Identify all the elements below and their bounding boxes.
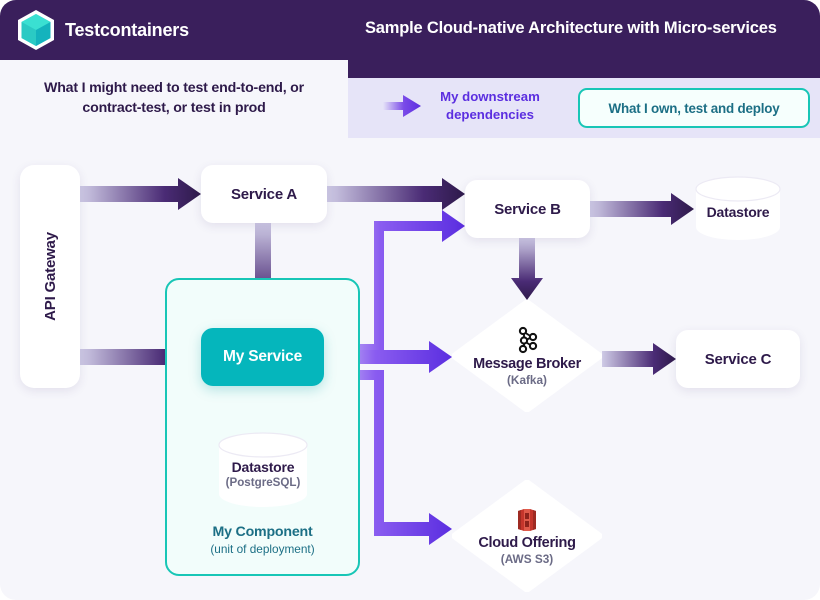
node-message-broker-label: Message Broker	[473, 356, 581, 372]
node-datastore-local[interactable]: Datastore (PostgreSQL)	[217, 432, 309, 508]
node-my-service[interactable]: My Service	[201, 328, 324, 386]
aws-s3-icon	[514, 507, 540, 533]
callout-text: What I might need to test end-to-end, or…	[0, 79, 348, 119]
node-message-broker[interactable]: Message Broker (Kafka)	[452, 300, 602, 412]
brand-name: Testcontainers	[65, 20, 189, 41]
callout-panel: What I might need to test end-to-end, or…	[0, 60, 348, 138]
edge-service-a-to-service-b	[327, 178, 465, 210]
node-datastore-local-label: Datastore	[226, 459, 301, 475]
node-my-service-label: My Service	[223, 348, 302, 366]
node-service-c[interactable]: Service C	[676, 330, 800, 388]
legend-downstream-label: My downstream dependencies	[431, 88, 549, 124]
group-my-component: My Component (unit of deployment)	[165, 278, 360, 576]
group-subtitle: (unit of deployment)	[167, 542, 358, 556]
edge-service-b-to-datastore-remote	[590, 193, 694, 225]
node-datastore-remote-text: Datastore	[707, 196, 770, 220]
edge-service-b-to-message-broker	[511, 238, 543, 300]
node-api-gateway[interactable]: API Gateway	[20, 165, 80, 388]
node-service-a-label: Service A	[231, 186, 297, 203]
page-title: Sample Cloud-native Architecture with Mi…	[365, 17, 795, 39]
edge-message-broker-to-service-c	[602, 343, 676, 375]
node-api-gateway-label: API Gateway	[42, 232, 59, 321]
legend-owned-badge: What I own, test and deploy	[578, 88, 810, 128]
node-datastore-local-sublabel: (PostgreSQL)	[226, 476, 301, 489]
right-arrow-icon-svg	[383, 93, 421, 119]
legend-owned-label: What I own, test and deploy	[609, 101, 780, 116]
right-arrow-icon	[383, 93, 421, 119]
node-datastore-local-text: Datastore (PostgreSQL)	[226, 451, 301, 489]
legend-downstream: My downstream dependencies	[383, 88, 549, 124]
node-message-broker-sublabel: (Kafka)	[473, 373, 581, 387]
kafka-icon	[514, 326, 540, 354]
brand: Testcontainers	[16, 9, 189, 51]
node-datastore-remote-label: Datastore	[707, 204, 770, 220]
node-service-b[interactable]: Service B	[465, 180, 590, 238]
node-cloud-offering-sublabel: (AWS S3)	[478, 552, 575, 566]
node-cloud-offering-content: Cloud Offering (AWS S3)	[478, 507, 575, 566]
architecture-diagram-card: Testcontainers Sample Cloud-native Archi…	[0, 0, 820, 600]
group-title: My Component	[167, 524, 358, 540]
node-cloud-offering-label: Cloud Offering	[478, 535, 575, 551]
testcontainers-cube-icon	[16, 9, 56, 51]
edge-api-gateway-to-service-a	[80, 178, 201, 210]
node-datastore-remote[interactable]: Datastore	[694, 176, 782, 240]
node-service-a[interactable]: Service A	[201, 165, 327, 223]
group-caption: My Component (unit of deployment)	[167, 524, 358, 556]
node-cloud-offering[interactable]: Cloud Offering (AWS S3)	[452, 480, 602, 592]
testcontainers-cube-icon-svg	[16, 9, 56, 51]
node-message-broker-content: Message Broker (Kafka)	[473, 326, 581, 387]
node-service-c-label: Service C	[705, 351, 772, 368]
diagram-canvas: My Component (unit of deployment)	[0, 138, 820, 600]
node-service-b-label: Service B	[494, 201, 561, 218]
